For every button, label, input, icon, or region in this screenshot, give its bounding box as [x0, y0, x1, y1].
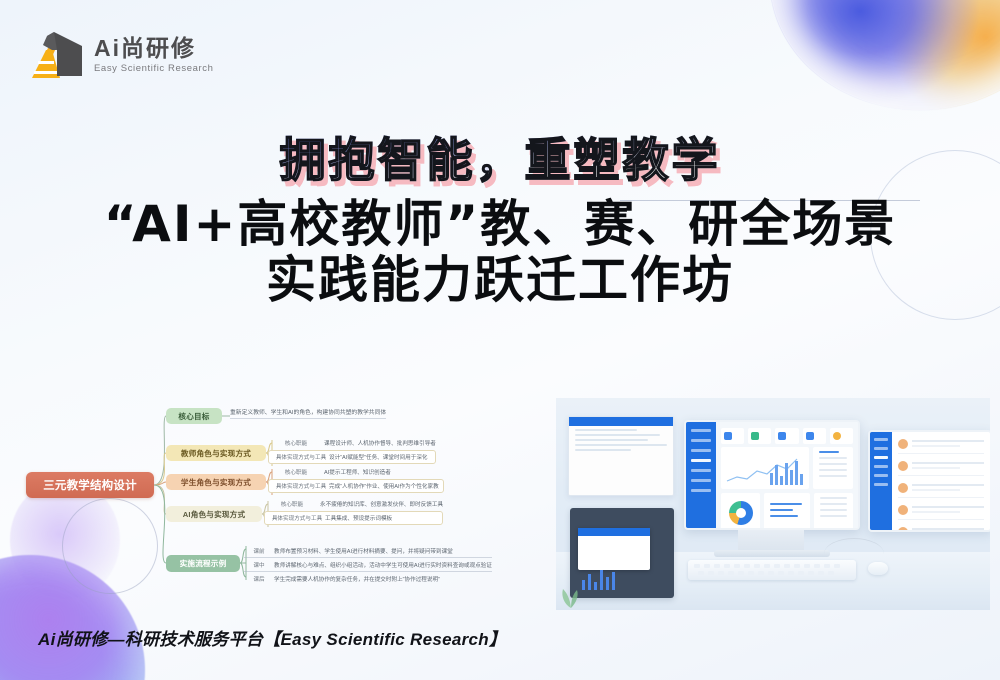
- slide-canvas: Ai尚研修 Easy Scientific Research 拥抱智能，重塑教学…: [0, 0, 1000, 680]
- brand-logo-text: Ai尚研修 Easy Scientific Research: [94, 37, 213, 74]
- monitor-base: [714, 550, 830, 557]
- content-line: [575, 449, 631, 451]
- mindmap-leaf-flow: 课前 教师布置预习材料、学生使用AI进行材料摘要、提问，并将疑问带到课堂 课中 …: [244, 544, 492, 586]
- leaf-value: 重新定义教师、学生和AI的角色，构建协同共塑的教学共同体: [230, 407, 386, 416]
- avatar: [898, 461, 908, 471]
- leaf-value: 教师讲解核心与难点、组织小组活动，活动中学生可使用AI进行实时资料查询或观点验证: [274, 561, 492, 569]
- leaf-key: 具体实现方式与工具: [269, 514, 325, 522]
- mindmap-leaf-row: 核心职能 AI提示工程师、知识创造者: [268, 465, 444, 479]
- kpi-card: [803, 428, 826, 444]
- list-item: [819, 469, 847, 471]
- footer-text: Ai尚研修—科研技术服务平台【Easy Scientific Research】: [38, 625, 506, 650]
- kpi-card: [721, 428, 744, 444]
- brand-name-en: Easy Scientific Research: [94, 64, 213, 74]
- mindmap-branch-core-goal[interactable]: 核心目标: [166, 408, 222, 424]
- desktop-dashboard-image: [556, 398, 990, 610]
- mindmap-leaf-core-goal: 重新定义教师、学生和AI的角色，构建协同共塑的教学共同体: [230, 405, 386, 419]
- kpi-card: [775, 428, 798, 444]
- leaf-key: 课前: [244, 547, 274, 555]
- kpi-card: [748, 428, 771, 444]
- hbar: [770, 509, 793, 511]
- donut-chart-panel: [721, 493, 760, 530]
- leaf-value: 工具集成、预设提示词模板: [325, 514, 392, 522]
- keyboard: [688, 560, 856, 580]
- row-title: [912, 462, 984, 464]
- window-titlebar: [569, 417, 673, 426]
- mindmap-leaf-row: 具体实现方式与工具 设计“AI赋能型”任务、课堂时间用于深化: [268, 450, 436, 464]
- mindmap-branch-student-role[interactable]: 学生角色与实现方式: [166, 474, 266, 490]
- list-row: [898, 526, 984, 532]
- leaf-key: 课后: [244, 575, 274, 583]
- content-line: [575, 434, 660, 436]
- leaf-key: 具体实现方式与工具: [273, 482, 329, 490]
- horizontal-bar-panel: [764, 493, 811, 530]
- list-item: [819, 451, 839, 453]
- headline-block: 拥抱智能，重塑教学 “AI+高校教师”教、赛、研全场景 实践能力跃迁工作坊: [0, 124, 1000, 308]
- avatar: [898, 439, 908, 449]
- hbar: [770, 503, 803, 505]
- mindmap-leaf-row: 课前 教师布置预习材料、学生使用AI进行材料摘要、提问，并将疑问带到课堂: [244, 544, 492, 558]
- list-item: [820, 509, 847, 511]
- list-item: [820, 503, 847, 505]
- row-title: [912, 506, 984, 508]
- list-row: [898, 482, 984, 498]
- dashboard-body: [716, 422, 858, 528]
- tent-pyramid-logo-icon: [30, 28, 86, 82]
- ranking-panel: [814, 493, 853, 530]
- leaf-value: 教师布置预习材料、学生使用AI进行材料摘要、提问，并将疑问带到课堂: [274, 547, 453, 555]
- mindmap-root-node[interactable]: 三元教学结构设计: [26, 472, 154, 498]
- right-monitor-list-view: [868, 430, 990, 532]
- kpi-row: [716, 422, 858, 447]
- mouse: [868, 562, 888, 575]
- brand-name-cn: Ai尚研修: [94, 37, 213, 60]
- mindmap-leaf-row: 具体实现方式与工具 工具集成、预设提示词模板: [264, 511, 443, 525]
- leaf-value: 学生完成需要人机协作的复杂任务，并在提交时附上“协作过程说明”: [274, 575, 440, 583]
- brand-logo: Ai尚研修 Easy Scientific Research: [30, 28, 213, 82]
- bar-series: [770, 459, 803, 485]
- list-row: [898, 504, 984, 520]
- list-item: [820, 497, 847, 499]
- list-panel: [813, 447, 853, 489]
- leaf-key: 核心职能: [268, 439, 324, 447]
- cable: [824, 538, 884, 554]
- leaf-key: 具体实现方式与工具: [273, 453, 329, 461]
- content-line: [575, 429, 637, 431]
- laptop-screen-left: [568, 416, 674, 496]
- donut-chart: [729, 501, 753, 525]
- list-row: [898, 460, 984, 476]
- dialog-titlebar: [578, 528, 650, 536]
- mindmap-branch-flow-example[interactable]: 实施流程示例: [166, 555, 240, 572]
- mindmap-leaf-row: 核心职能 课程设计师、人机协作督导、批判思维引导者: [268, 436, 436, 450]
- list-item: [819, 475, 847, 477]
- subtitle-line-2: 实践能力跃迁工作坊: [0, 252, 1000, 308]
- tablet-screen-bottom-left: [570, 508, 674, 598]
- line-bar-chart-panel: [721, 447, 809, 489]
- leaf-key: 核心职能: [268, 468, 324, 476]
- mindmap-leaf-row: 课后 学生完成需要人机协作的复杂任务，并在提交时附上“协作过程说明”: [244, 572, 492, 586]
- list-item: [819, 463, 847, 465]
- leaf-key: 核心职能: [264, 500, 320, 508]
- mindmap-leaf-row: 重新定义教师、学生和AI的角色，构建协同共塑的教学共同体: [230, 405, 386, 419]
- subtitle-block: “AI+高校教师”教、赛、研全场景 实践能力跃迁工作坊: [0, 196, 1000, 308]
- row-title: [912, 528, 984, 530]
- dashboard-sidebar: [870, 432, 892, 530]
- mindmap-leaf-student: 核心职能 AI提示工程师、知识创造者 具体实现方式与工具 完成“人机协作”作业、…: [268, 465, 444, 493]
- leaf-value: 设计“AI赋能型”任务、课堂时间用于深化: [329, 453, 428, 461]
- mindmap-leaf-row: 具体实现方式与工具 完成“人机协作”作业、使用AI作为个性化家教: [268, 479, 444, 493]
- plant-decoration: [558, 582, 584, 608]
- mindmap-leaf-row: 课中 教师讲解核心与难点、组织小组活动，活动中学生可使用AI进行实时资料查询或观…: [244, 558, 492, 572]
- bar-chart-mini: [582, 568, 615, 590]
- row-subtitle: [912, 511, 960, 513]
- leaf-value: 永不疲倦的知识库、创意激发伙伴、即时反馈工具: [320, 500, 443, 508]
- content-line: [575, 444, 667, 446]
- mindmap-leaf-teacher: 核心职能 课程设计师、人机协作督导、批判思维引导者 具体实现方式与工具 设计“A…: [268, 436, 436, 464]
- chart-row-2: [716, 493, 858, 530]
- row-subtitle: [912, 467, 960, 469]
- avatar: [898, 527, 908, 532]
- monitor-stand: [738, 530, 804, 552]
- avatar: [898, 483, 908, 493]
- mindmap-leaf-row: 核心职能 永不疲倦的知识库、创意激发伙伴、即时反馈工具: [264, 497, 443, 511]
- row-subtitle: [912, 489, 960, 491]
- kpi-card: [830, 428, 853, 444]
- row-subtitle: [912, 445, 960, 447]
- top-right-blob-mask: [770, 0, 1000, 110]
- list-row: [898, 438, 984, 454]
- row-title: [912, 440, 984, 442]
- content-line: [575, 439, 648, 441]
- chart-row: [716, 447, 858, 489]
- mindmap-leaf-ai: 核心职能 永不疲倦的知识库、创意激发伙伴、即时反馈工具 具体实现方式与工具 工具…: [264, 497, 443, 525]
- leaf-value: AI提示工程师、知识创造者: [324, 468, 391, 476]
- row-title: [912, 484, 984, 486]
- avatar: [898, 505, 908, 515]
- leaf-value: 完成“人机协作”作业、使用AI作为个性化家教: [329, 482, 439, 490]
- leaf-key: 课中: [244, 561, 274, 569]
- mindmap-branch-teacher-role[interactable]: 教师角色与实现方式: [166, 445, 266, 461]
- main-monitor-dashboard: [684, 420, 860, 530]
- subtitle-line-1: “AI+高校教师”教、赛、研全场景: [0, 196, 1000, 252]
- mindmap-branch-ai-role[interactable]: AI角色与实现方式: [166, 506, 262, 522]
- leaf-value: 课程设计师、人机协作督导、批判思维引导者: [324, 439, 436, 447]
- hbar: [770, 515, 798, 517]
- list-item: [820, 515, 847, 517]
- modal-dialog: [578, 528, 650, 570]
- mindmap-diagram: 三元教学结构设计 核心目标 教师角色与实现方式 学生角色与实现方式 AI角色与实…: [14, 396, 554, 600]
- page-title: 拥抱智能，重塑教学: [280, 124, 721, 190]
- dashboard-sidebar: [686, 422, 716, 528]
- list-item: [819, 457, 847, 459]
